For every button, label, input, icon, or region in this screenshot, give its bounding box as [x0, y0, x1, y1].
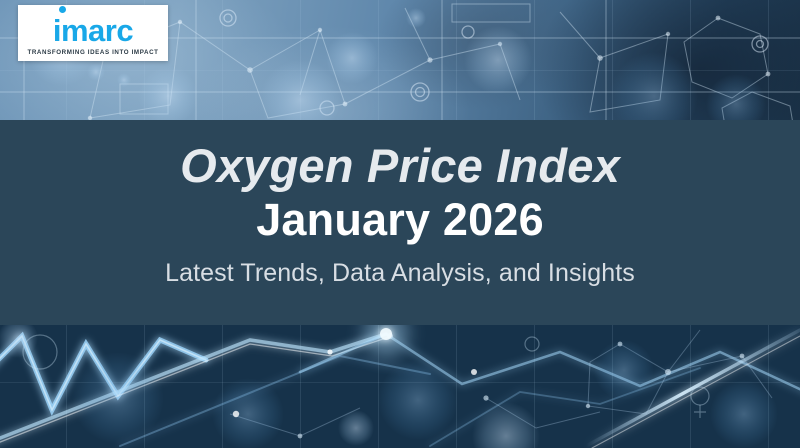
page-title-period: January 2026	[256, 197, 544, 243]
imarc-logo: imarc TRANSFORMING IDEAS INTO IMPACT	[18, 5, 168, 61]
logo-wordmark-wrap: imarc	[53, 15, 133, 46]
title-banner: Oxygen Price Index January 2026 Latest T…	[0, 120, 800, 325]
page-title-primary: Oxygen Price Index	[180, 142, 620, 190]
dot-icon	[59, 6, 66, 13]
logo-wordmark: imarc	[53, 13, 133, 48]
promo-banner-image: imarc TRANSFORMING IDEAS INTO IMPACT Oxy…	[0, 0, 800, 448]
page-subtitle: Latest Trends, Data Analysis, and Insigh…	[165, 259, 635, 288]
logo-tagline: TRANSFORMING IDEAS INTO IMPACT	[27, 49, 158, 56]
